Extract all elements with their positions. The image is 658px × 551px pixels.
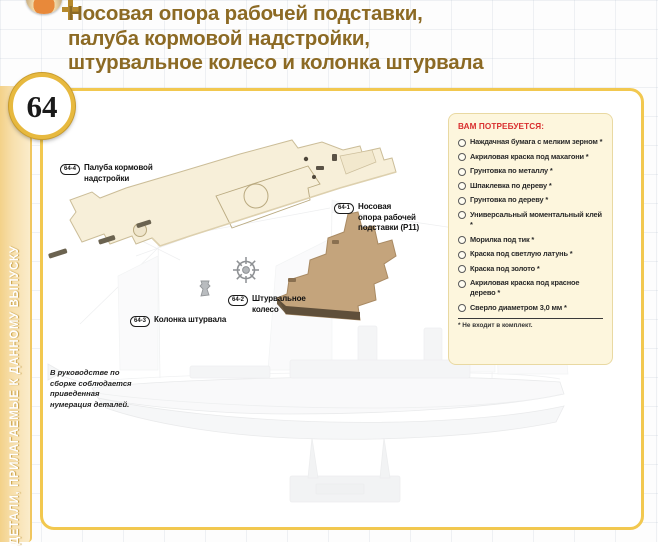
material-checkbox-icon[interactable] (458, 197, 466, 205)
material-item[interactable]: Акриловая краска под красное дерево * (458, 278, 603, 298)
material-item[interactable]: Шпаклевка по дереву * (458, 181, 603, 191)
part-name-64-4: Палуба кормовой надстройки (84, 163, 153, 184)
material-checkbox-icon[interactable] (458, 265, 466, 273)
part-number-64-3: 64-3 (130, 316, 150, 327)
material-item[interactable]: Грунтовка по металлу * (458, 166, 603, 176)
part-number-64-2: 64-2 (228, 295, 248, 306)
page-title-line-2: палуба кормовой надстройки, (68, 27, 653, 52)
material-item-label: Сверло диаметром 3,0 мм * (470, 303, 567, 313)
material-checkbox-icon[interactable] (458, 236, 466, 244)
part-number-64-4: 64-4 (60, 164, 80, 175)
assembly-note: В руководстве по сборке соблюдается прив… (50, 368, 140, 410)
material-item[interactable]: Универсальный моментальный клей * (458, 210, 603, 230)
material-item-label: Универсальный моментальный клей * (470, 210, 603, 230)
material-item-label: Морилка под тик * (470, 235, 534, 245)
material-checkbox-icon[interactable] (458, 168, 466, 176)
material-checkbox-icon[interactable] (458, 251, 466, 259)
material-item-label: Краска под светлую латунь * (470, 249, 573, 259)
material-item-label: Краска под золото * (470, 264, 540, 274)
part-label-64-1: 64-1 Носовая опора рабочей подставки (Р1… (334, 202, 439, 234)
material-checkbox-icon[interactable] (458, 304, 466, 312)
material-item-label: Наждачная бумага с мелким зерном * (470, 137, 602, 147)
part-64-2-shape (233, 257, 259, 283)
material-item-label: Акриловая краска под махагони * (470, 152, 589, 162)
side-tab-label: ДЕТАЛИ, ПРИЛАГАЕМЫЕ К ДАННОМУ ВЫПУСКУ (0, 95, 30, 551)
part-name-64-1: Носовая опора рабочей подставки (Р11) (358, 202, 419, 234)
material-item[interactable]: Краска под золото * (458, 264, 603, 274)
part-label-64-4: 64-4 Палуба кормовой надстройки (60, 163, 210, 184)
issue-number: 64 (27, 91, 58, 122)
materials-divider (458, 318, 603, 319)
material-item[interactable]: Сверло диаметром 3,0 мм * (458, 303, 603, 313)
part-64-3-shape (200, 281, 210, 296)
part-name-64-2: Штурвальное колесо (252, 294, 306, 315)
page-title: Носовая опора рабочей подставки, палуба … (68, 2, 653, 76)
page-title-line-1: Носовая опора рабочей подставки, (68, 2, 653, 27)
material-checkbox-icon[interactable] (458, 182, 466, 190)
part-label-64-3: 64-3 Колонка штурвала (130, 315, 270, 327)
issue-number-badge: 64 (9, 73, 75, 139)
page-header: Носовая опора рабочей подставки, палуба … (0, 0, 658, 92)
material-checkbox-icon[interactable] (458, 153, 466, 161)
material-item[interactable]: Морилка под тик * (458, 235, 603, 245)
material-item-label: Шпаклевка по дереву * (470, 181, 552, 191)
material-checkbox-icon[interactable] (458, 139, 466, 147)
materials-panel: ВАМ ПОТРЕБУЕТСЯ: Наждачная бумага с мелк… (448, 113, 613, 365)
materials-panel-title: ВАМ ПОТРЕБУЕТСЯ: (458, 122, 603, 131)
material-item-label: Грунтовка по дереву * (470, 195, 548, 205)
part-number-64-1: 64-1 (334, 203, 354, 214)
part-name-64-3: Колонка штурвала (154, 315, 226, 326)
materials-footnote: * Не входит в комплект. (458, 322, 603, 329)
page-title-line-3: штурвальное колесо и колонка штурвала (68, 51, 653, 76)
material-item[interactable]: Грунтовка по дереву * (458, 195, 603, 205)
material-item[interactable]: Наждачная бумага с мелким зерном * (458, 137, 603, 147)
part-label-64-2: 64-2 Штурвальное колесо (228, 294, 348, 315)
material-item[interactable]: Акриловая краска под махагони * (458, 152, 603, 162)
material-checkbox-icon[interactable] (458, 211, 466, 219)
material-item-label: Грунтовка по металлу * (470, 166, 553, 176)
materials-list: Наждачная бумага с мелким зерном *Акрило… (458, 137, 603, 313)
material-item-label: Акриловая краска под красное дерево * (470, 278, 603, 298)
material-checkbox-icon[interactable] (458, 280, 466, 288)
side-tab: ДЕТАЛИ, ПРИЛАГАЕМЫЕ К ДАННОМУ ВЫПУСКУ (0, 86, 32, 542)
material-item[interactable]: Краска под светлую латунь * (458, 249, 603, 259)
publisher-logo-icon (26, 0, 62, 14)
